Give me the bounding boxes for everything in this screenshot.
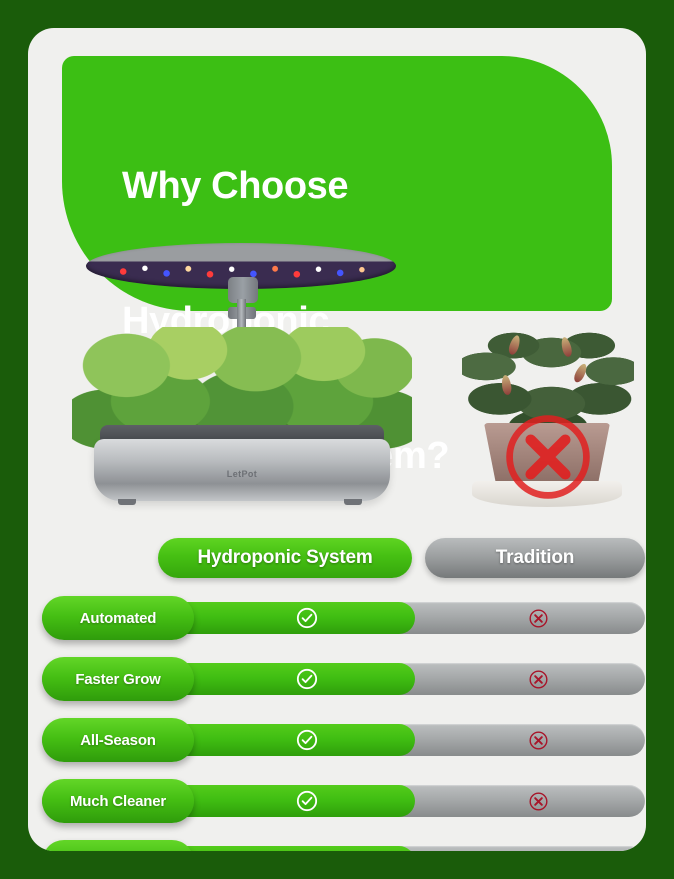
feature-label: Fit Anywhere (42, 840, 194, 851)
traditional-plant-image (458, 327, 638, 517)
table-row: Fit Anywhere (28, 840, 646, 851)
check-circle-icon (296, 668, 318, 690)
infographic-root: Why Choose Hydroponic Growing System? Le… (0, 0, 674, 879)
comparison-header: Hydroponic System Tradition (28, 538, 646, 586)
column-header-hydroponic: Hydroponic System (158, 538, 412, 578)
hydroponic-system-image: LetPot (72, 327, 412, 507)
product-showcase: LetPot (28, 223, 646, 523)
feature-label: All-Season (42, 718, 194, 762)
column-header-tradition: Tradition (425, 538, 645, 578)
feature-label: Automated (42, 596, 194, 640)
check-circle-icon (296, 729, 318, 751)
red-cross-overlay-icon (500, 409, 596, 505)
hydro-foot-right (344, 499, 362, 505)
table-row: Faster Grow (28, 657, 646, 707)
title-line-1: Why Choose (122, 164, 592, 209)
feature-label: Much Cleaner (42, 779, 194, 823)
check-circle-icon (296, 607, 318, 629)
cross-circle-icon (528, 608, 549, 629)
cross-circle-icon (528, 791, 549, 812)
hydro-base: LetPot (94, 439, 390, 501)
table-row: Much Cleaner (28, 779, 646, 829)
content-card: Why Choose Hydroponic Growing System? Le… (28, 28, 646, 851)
comparison-rows: Automated Faster Grow (28, 596, 646, 851)
cross-circle-icon (528, 669, 549, 690)
cross-circle-icon (528, 730, 549, 751)
feature-label: Faster Grow (42, 657, 194, 701)
table-row: Automated (28, 596, 646, 646)
brand-logo: LetPot (227, 469, 257, 479)
hydro-foot-left (118, 499, 136, 505)
check-circle-icon (296, 790, 318, 812)
table-row: All-Season (28, 718, 646, 768)
